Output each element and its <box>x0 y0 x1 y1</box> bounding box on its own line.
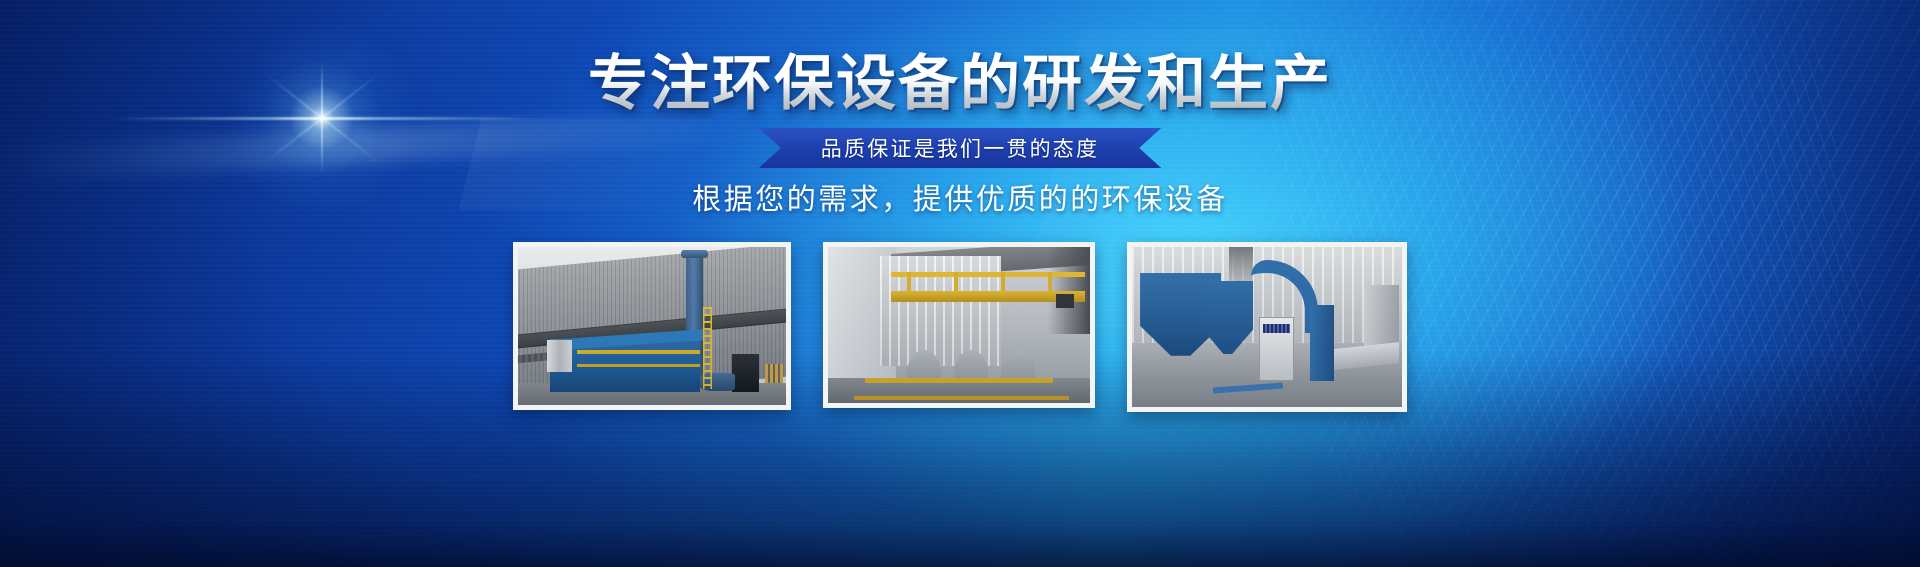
photo-2-scene <box>828 247 1090 403</box>
photo-thumbnail-3[interactable] <box>1127 242 1407 412</box>
banner-headline: 专注环保设备的研发和生产 <box>0 52 1920 115</box>
hero-banner: 专注环保设备的研发和生产 品质保证是我们一贯的态度 根据您的需求，提供优质的的环… <box>0 0 1920 567</box>
photo-thumbnail-1[interactable] <box>513 242 791 410</box>
photo-1-scene <box>518 247 786 405</box>
quality-ribbon-badge: 品质保证是我们一贯的态度 <box>759 128 1161 168</box>
photo-strip <box>0 242 1920 412</box>
banner-content: 专注环保设备的研发和生产 品质保证是我们一贯的态度 根据您的需求，提供优质的的环… <box>0 0 1920 567</box>
photo-thumbnail-2[interactable] <box>823 242 1095 408</box>
banner-subline: 根据您的需求，提供优质的的环保设备 <box>0 176 1920 218</box>
photo-3-scene <box>1132 247 1402 407</box>
badge-label: 品质保证是我们一贯的态度 <box>821 133 1099 163</box>
badge-container: 品质保证是我们一贯的态度 <box>0 128 1920 168</box>
